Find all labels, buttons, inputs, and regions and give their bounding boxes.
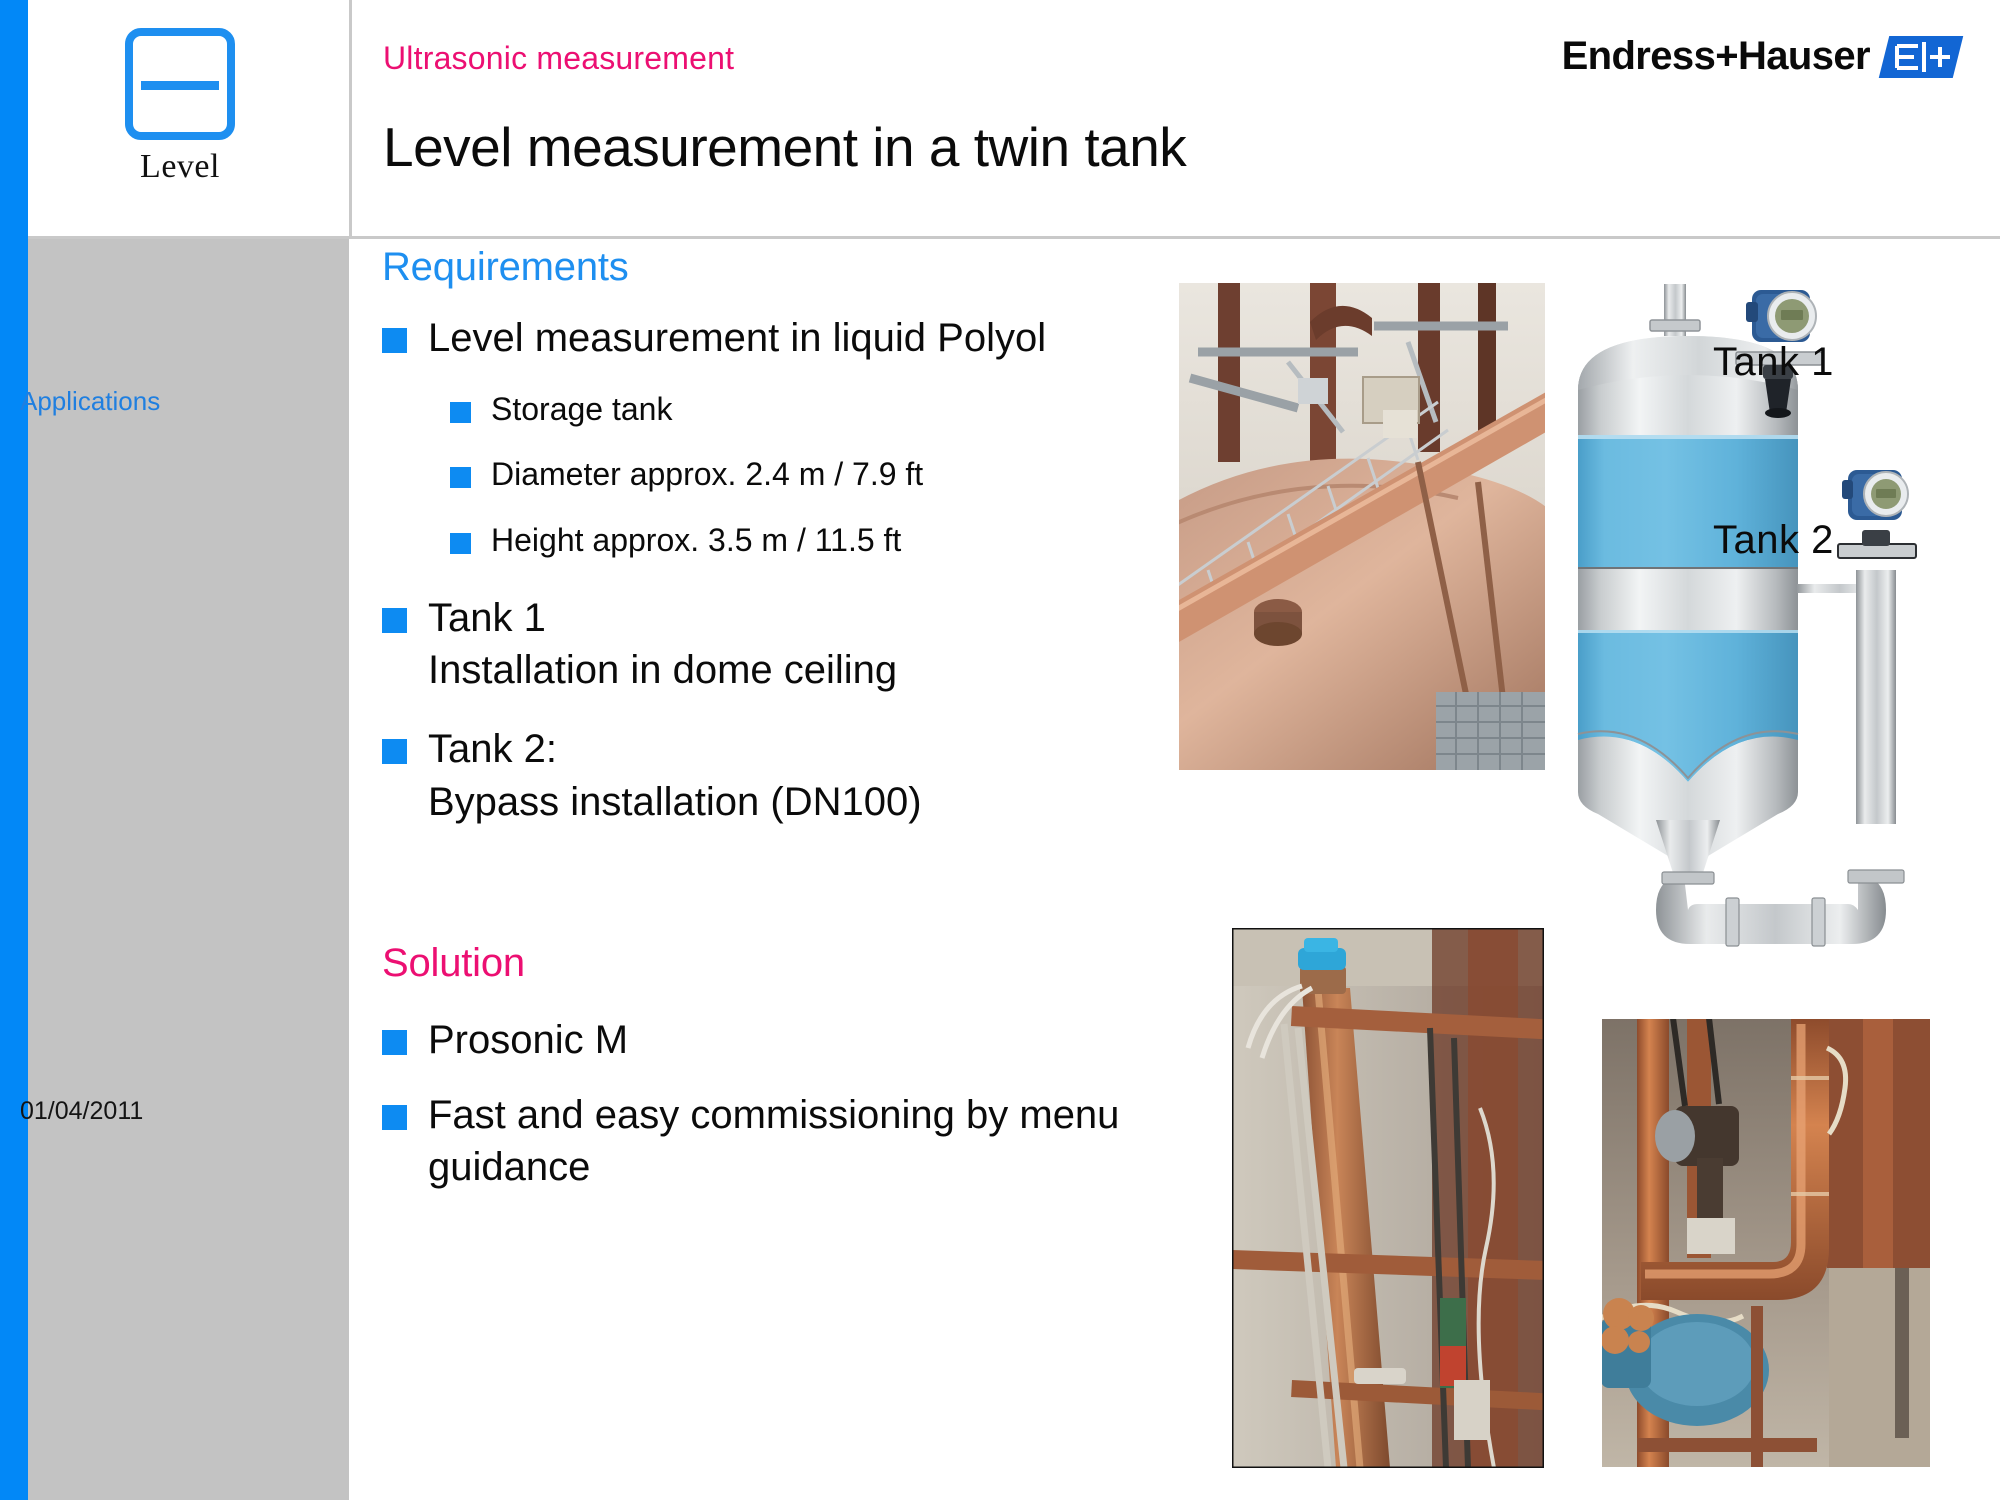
bullet-text: Level measurement in liquid Polyol bbox=[428, 312, 1046, 365]
bullet-text: Tank 2: Bypass installation (DN100) bbox=[428, 723, 922, 829]
tank-top-installation-photo bbox=[1178, 282, 1546, 771]
slide-date: 01/04/2011 bbox=[20, 1097, 143, 1126]
list-item: Height approx. 3.5 m / 11.5 ft bbox=[450, 520, 1142, 562]
solution-heading: Solution bbox=[382, 941, 1142, 986]
endress-hauser-logo: Endress+Hauser bbox=[1562, 34, 1958, 79]
bullet-square-icon bbox=[382, 328, 407, 353]
header-vertical-divider bbox=[349, 0, 352, 237]
bullet-square-icon bbox=[382, 608, 407, 633]
copper-piping-pump-photo bbox=[1601, 1018, 1931, 1468]
prosonic-sensor-tank2 bbox=[1838, 470, 1916, 558]
bullet-text: Tank 1 Installation in dome ceiling bbox=[428, 592, 897, 698]
bullet-square-icon bbox=[382, 739, 407, 764]
list-item: Diameter approx. 2.4 m / 7.9 ft bbox=[450, 454, 1142, 496]
brand-wordmark: Endress+Hauser bbox=[1562, 34, 1870, 79]
list-item: Prosonic M bbox=[382, 1014, 1142, 1067]
bullet-text: Height approx. 3.5 m / 11.5 ft bbox=[491, 520, 901, 562]
level-category-badge: Level bbox=[100, 28, 260, 213]
left-sidebar bbox=[28, 239, 350, 1500]
list-item: Storage tank bbox=[450, 389, 1142, 431]
list-item: Fast and easy commissioning by menu guid… bbox=[382, 1089, 1142, 1195]
bullet-text: Prosonic M bbox=[428, 1014, 628, 1067]
requirements-sublist: Storage tank Diameter approx. 2.4 m / 7.… bbox=[382, 389, 1142, 562]
bullet-square-icon bbox=[450, 402, 471, 423]
left-accent-bar bbox=[0, 0, 28, 1500]
bullet-text: Diameter approx. 2.4 m / 7.9 ft bbox=[491, 454, 923, 496]
requirements-heading: Requirements bbox=[382, 245, 1142, 290]
bullet-square-icon bbox=[450, 533, 471, 554]
level-icon bbox=[125, 28, 235, 140]
list-item: Tank 2: Bypass installation (DN100) bbox=[382, 723, 1142, 829]
eh-parallelogram-mark bbox=[1879, 36, 1963, 78]
tank2-label: Tank 2 bbox=[1713, 518, 1834, 563]
bullet-text: Fast and easy commissioning by menu guid… bbox=[428, 1089, 1142, 1195]
bullet-square-icon bbox=[382, 1105, 407, 1130]
bypass-pipe-photo bbox=[1232, 928, 1544, 1468]
header-kicker: Ultrasonic measurement bbox=[383, 40, 734, 77]
tank1-label: Tank 1 bbox=[1713, 340, 1834, 385]
level-category-label: Level bbox=[140, 148, 220, 186]
bullet-square-icon bbox=[450, 467, 471, 488]
bullet-text: Storage tank bbox=[491, 389, 672, 431]
text-column: Requirements Level measurement in liquid… bbox=[382, 239, 1142, 1194]
list-item: Tank 1 Installation in dome ceiling bbox=[382, 592, 1142, 698]
slide-canvas: Level Ultrasonic measurement Level measu… bbox=[0, 0, 2000, 1500]
list-item: Level measurement in liquid Polyol bbox=[382, 312, 1142, 365]
bullet-square-icon bbox=[382, 1030, 407, 1055]
page-title: Level measurement in a twin tank bbox=[383, 115, 1186, 179]
sidebar-item-applications[interactable]: Applications bbox=[20, 386, 320, 417]
